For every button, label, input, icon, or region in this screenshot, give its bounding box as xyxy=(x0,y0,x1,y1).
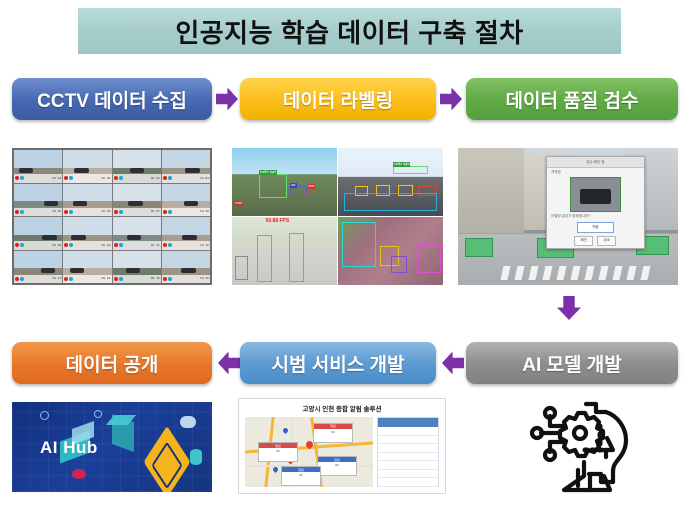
camera-channel-label: CH 13 xyxy=(52,277,61,280)
dialog-object-thumbnail xyxy=(570,177,620,212)
status-indicator-icon xyxy=(119,176,123,180)
cctv-camera-cell[interactable]: CH 07 xyxy=(113,184,161,217)
labeling-cell-segmentation xyxy=(338,217,443,285)
labeling-example-panel: traffic light car bus road traffic light… xyxy=(232,148,443,285)
status-indicator-icon xyxy=(20,210,24,214)
bounding-box xyxy=(235,256,248,279)
camera-sky xyxy=(63,184,111,202)
status-indicator-icon xyxy=(69,243,73,247)
camera-vehicle xyxy=(181,268,195,273)
status-indicator-icon xyxy=(69,176,73,180)
bbox-tag: road xyxy=(234,201,243,206)
process-step-cctv-data-collection[interactable]: CCTV 데이터 수집 xyxy=(12,78,212,120)
status-indicator-icon xyxy=(168,176,172,180)
table-row xyxy=(378,427,438,436)
cctv-multiview-panel: CH 01CH 02CH 03CH 04CH 05CH 06CH 07CH 08… xyxy=(12,148,212,285)
camera-vehicle xyxy=(126,268,140,273)
record-indicator-icon xyxy=(114,277,118,281)
map-pin[interactable] xyxy=(272,466,279,473)
camera-osd-bar: CH 07 xyxy=(113,208,161,216)
ai-hub-brand: AI Hub xyxy=(40,438,98,458)
cctv-camera-cell[interactable]: CH 02 xyxy=(63,150,111,183)
camera-osd-bar: CH 12 xyxy=(162,241,210,249)
pilot-service-map-panel: 고양시 인현 종합 알림 솔루션 알림 #4 알림 #3 알림 xyxy=(238,398,446,494)
node-dot xyxy=(40,411,49,420)
camera-channel-label: CH 16 xyxy=(200,277,209,280)
cctv-camera-cell[interactable]: CH 06 xyxy=(63,184,111,217)
table-row xyxy=(378,478,438,487)
process-step-data-quality-inspection[interactable]: 데이터 품질 검수 xyxy=(466,78,678,120)
map-event-table[interactable] xyxy=(377,417,439,487)
bounding-box xyxy=(289,233,305,282)
record-indicator-icon xyxy=(15,210,19,214)
process-step-label: AI 모델 개발 xyxy=(522,350,621,377)
process-step-pilot-service-development[interactable]: 시범 서비스 개발 xyxy=(240,342,436,384)
table-row xyxy=(378,453,438,462)
status-indicator-icon xyxy=(168,210,172,214)
arrow-right-icon xyxy=(440,86,462,112)
camera-sky xyxy=(14,251,62,269)
record-indicator-icon xyxy=(163,243,167,247)
map-callout[interactable]: 알림 #3 xyxy=(258,442,298,462)
bounding-box xyxy=(391,256,408,272)
record-indicator-icon xyxy=(64,277,68,281)
camera-channel-label: CH 09 xyxy=(52,244,61,247)
dialog-titlebar: 검수 확인 창 xyxy=(547,157,644,168)
bounding-box xyxy=(418,244,441,273)
dialog-question: 라벨링 결과가 정확합니까? xyxy=(551,214,644,219)
camera-osd-bar: CH 09 xyxy=(14,241,62,249)
status-indicator-icon xyxy=(119,210,123,214)
camera-sky xyxy=(162,184,210,202)
camera-osd-bar: CH 15 xyxy=(113,275,161,283)
process-step-data-release[interactable]: 데이터 공개 xyxy=(12,342,212,384)
page-title: 인공지능 학습 데이터 구축 절차 xyxy=(175,13,523,50)
process-step-data-labeling[interactable]: 데이터 라벨링 xyxy=(240,78,436,120)
crosswalk xyxy=(501,266,658,280)
record-indicator-icon xyxy=(114,176,118,180)
page-title-banner: 인공지능 학습 데이터 구축 절차 xyxy=(78,8,621,54)
building-left xyxy=(458,148,524,233)
map-callout[interactable]: 알림 #1 xyxy=(281,466,321,486)
camera-vehicle xyxy=(74,168,88,173)
record-indicator-icon xyxy=(64,210,68,214)
bounding-box xyxy=(344,193,436,211)
camera-channel-label: CH 02 xyxy=(101,177,110,180)
table-row xyxy=(378,487,438,495)
camera-osd-bar: CH 02 xyxy=(63,174,111,182)
table-row xyxy=(378,444,438,453)
camera-sky xyxy=(63,251,111,269)
map-callout[interactable]: 알림 #4 xyxy=(313,423,353,443)
camera-osd-bar: CH 04 xyxy=(162,174,210,182)
fps-readout: 50.88 FPS xyxy=(266,218,290,224)
cctv-camera-cell[interactable]: CH 03 xyxy=(113,150,161,183)
table-row xyxy=(378,470,438,479)
process-step-label: 시범 서비스 개발 xyxy=(272,350,405,377)
camera-vehicle xyxy=(127,235,141,240)
cctv-camera-cell[interactable]: CH 14 xyxy=(63,251,111,284)
camera-vehicle xyxy=(185,168,199,173)
camera-vehicle xyxy=(42,235,56,240)
cctv-camera-cell[interactable]: CH 08 xyxy=(162,184,210,217)
camera-channel-label: CH 03 xyxy=(151,177,160,180)
status-indicator-icon xyxy=(69,210,73,214)
status-indicator-icon xyxy=(20,243,24,247)
cctv-camera-cell[interactable]: CH 10 xyxy=(63,217,111,250)
bbox-tag: traffic light xyxy=(393,162,411,167)
camera-sky xyxy=(113,184,161,202)
status-indicator-icon xyxy=(20,176,24,180)
camera-sky xyxy=(113,217,161,235)
camera-channel-label: CH 12 xyxy=(200,244,209,247)
camera-osd-bar: CH 05 xyxy=(14,208,62,216)
dialog-button-row: 확인 취소 xyxy=(547,236,644,246)
camera-sky xyxy=(14,217,62,235)
camera-channel-label: CH 14 xyxy=(101,277,110,280)
camera-osd-bar: CH 14 xyxy=(63,275,111,283)
camera-channel-label: CH 01 xyxy=(52,177,61,180)
camera-channel-label: CH 11 xyxy=(151,244,160,247)
camera-osd-bar: CH 11 xyxy=(113,241,161,249)
map-callout-label: #2 xyxy=(318,462,356,467)
status-indicator-icon xyxy=(20,277,24,281)
dialog-cancel-button[interactable]: 취소 xyxy=(597,236,616,246)
cctv-camera-cell[interactable]: CH 12 xyxy=(162,217,210,250)
camera-sky xyxy=(14,184,62,202)
process-step-label: CCTV 데이터 수집 xyxy=(37,86,187,113)
camera-sky xyxy=(63,150,111,168)
camera-osd-bar: CH 13 xyxy=(14,275,62,283)
camera-channel-label: CH 15 xyxy=(151,277,160,280)
cctv-camera-cell[interactable]: CH 04 xyxy=(162,150,210,183)
table-row xyxy=(378,436,438,445)
red-node xyxy=(72,469,86,479)
camera-osd-bar: CH 06 xyxy=(63,208,111,216)
camera-sky xyxy=(113,251,161,269)
process-step-label: 데이터 공개 xyxy=(66,350,159,377)
camera-sky xyxy=(162,217,210,235)
camera-osd-bar: CH 16 xyxy=(162,275,210,283)
camera-vehicle xyxy=(73,201,87,206)
cloud-icon xyxy=(180,416,196,428)
status-indicator-icon xyxy=(119,243,123,247)
camera-osd-bar: CH 08 xyxy=(162,208,210,216)
cctv-camera-cell[interactable]: CH 13 xyxy=(14,251,62,284)
cctv-camera-cell[interactable]: CH 05 xyxy=(14,184,62,217)
record-indicator-icon xyxy=(163,277,167,281)
cctv-camera-cell[interactable]: CH 09 xyxy=(14,217,62,250)
camera-sky xyxy=(162,251,210,269)
status-indicator-icon xyxy=(168,277,172,281)
camera-vehicle xyxy=(128,201,142,206)
camera-channel-label: CH 07 xyxy=(151,210,160,213)
record-indicator-icon xyxy=(114,243,118,247)
labeling-cell-pedestrians: 50.88 FPS xyxy=(232,217,337,285)
status-indicator-icon xyxy=(168,243,172,247)
dialog-confirm-button[interactable]: 확인 xyxy=(574,236,593,246)
record-indicator-icon xyxy=(15,277,19,281)
camera-sky xyxy=(113,150,161,168)
ai-model-icon-panel xyxy=(512,392,642,497)
quality-check-dialog[interactable]: 검수 확인 창 객체명 라벨링 결과가 정확합니까? 차량 확인 취소 xyxy=(546,156,645,248)
bounding-box xyxy=(259,174,286,198)
status-indicator-icon xyxy=(119,277,123,281)
map-canvas[interactable]: 알림 #4 알림 #3 알림 #2 알림 #1 xyxy=(245,417,373,487)
camera-vehicle xyxy=(44,201,58,206)
camera-vehicle xyxy=(182,235,196,240)
map-panel-title: 고양시 인현 종합 알림 솔루션 xyxy=(239,399,445,413)
bounding-box xyxy=(342,222,376,267)
cctv-camera-cell[interactable]: CH 01 xyxy=(14,150,62,183)
record-indicator-icon xyxy=(64,243,68,247)
camera-sky xyxy=(14,150,62,168)
camera-vehicle xyxy=(70,268,84,273)
dialog-field-label: 객체명 xyxy=(551,170,644,175)
camera-vehicle xyxy=(71,235,85,240)
table-header-row xyxy=(378,418,438,427)
map-callout[interactable]: 알림 #2 xyxy=(317,456,357,476)
quality-inspection-panel: 검수 확인 창 객체명 라벨링 결과가 정확합니까? 차량 확인 취소 xyxy=(458,148,678,285)
record-indicator-icon xyxy=(64,176,68,180)
camera-sky xyxy=(162,150,210,168)
bbox-tag: bus xyxy=(308,184,316,189)
camera-vehicle xyxy=(41,268,55,273)
dialog-answer-input[interactable]: 차량 xyxy=(577,222,614,233)
map-body: 알림 #4 알림 #3 알림 #2 알림 #1 xyxy=(245,417,439,487)
camera-osd-bar: CH 03 xyxy=(113,174,161,182)
segmented-vehicle xyxy=(465,238,493,256)
cctv-camera-cell[interactable]: CH 11 xyxy=(113,217,161,250)
database-icon xyxy=(190,449,202,465)
camera-osd-bar: CH 10 xyxy=(63,241,111,249)
arrow-left-icon xyxy=(218,350,240,376)
process-step-label: 데이터 라벨링 xyxy=(283,86,393,113)
camera-sky xyxy=(63,217,111,235)
record-indicator-icon xyxy=(15,176,19,180)
camera-vehicle xyxy=(184,201,198,206)
record-indicator-icon xyxy=(163,210,167,214)
camera-channel-label: CH 08 xyxy=(200,210,209,213)
camera-channel-label: CH 04 xyxy=(200,177,209,180)
record-indicator-icon xyxy=(114,210,118,214)
camera-channel-label: CH 05 xyxy=(52,210,61,213)
camera-vehicle xyxy=(130,168,144,173)
ai-brain-head-icon xyxy=(512,392,642,497)
record-indicator-icon xyxy=(163,176,167,180)
ai-hub-banner-panel: AI Hub xyxy=(12,402,212,492)
camera-channel-label: CH 10 xyxy=(101,244,110,247)
camera-osd-bar: CH 01 xyxy=(14,174,62,182)
map-callout-label: #1 xyxy=(282,472,320,477)
process-step-ai-model-development[interactable]: AI 모델 개발 xyxy=(466,342,678,384)
camera-vehicle xyxy=(19,168,33,173)
map-callout-label: #4 xyxy=(314,429,352,434)
cctv-camera-cell[interactable]: CH 15 xyxy=(113,251,161,284)
bbox-tag: car xyxy=(290,183,297,188)
record-indicator-icon xyxy=(15,243,19,247)
arrow-left-icon xyxy=(442,350,464,376)
labeling-cell-front-camera: traffic light car bus road xyxy=(232,148,337,216)
bounding-box xyxy=(257,235,272,283)
camera-channel-label: CH 06 xyxy=(101,210,110,213)
bbox-tag: traffic light xyxy=(259,170,277,175)
labeling-cell-street-view: traffic light xyxy=(338,148,443,216)
map-pin[interactable] xyxy=(282,427,289,434)
arrow-down-icon xyxy=(556,296,582,320)
process-step-label: 데이터 품질 검수 xyxy=(506,86,639,113)
table-row xyxy=(378,461,438,470)
map-callout-label: #3 xyxy=(259,448,297,453)
status-indicator-icon xyxy=(69,277,73,281)
cctv-camera-cell[interactable]: CH 16 xyxy=(162,251,210,284)
arrow-right-icon xyxy=(216,86,238,112)
